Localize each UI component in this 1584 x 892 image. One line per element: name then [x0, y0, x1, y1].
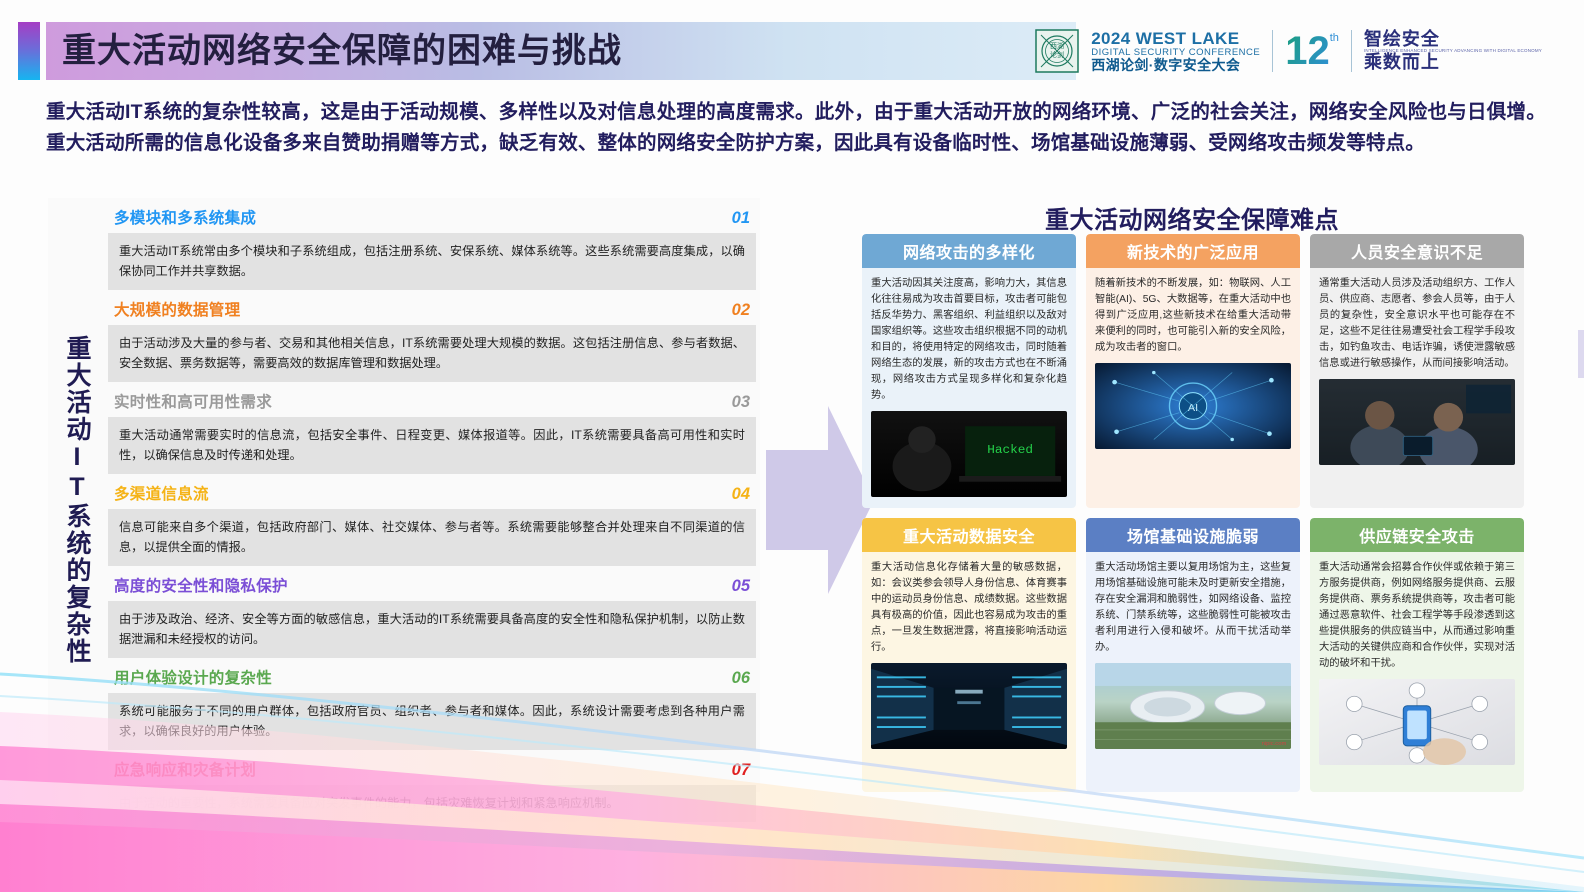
complexity-item-text: 系统可能服务于不同的用户群体，包括政府官员、组织者、参与者和媒体。因此，系统设计… — [108, 693, 756, 750]
complexity-item-title: 实时性和高可用性需求 — [114, 390, 272, 412]
complexity-item-number: 07 — [732, 761, 750, 780]
difficulty-card-text: 重大活动因其关注度高，影响力大，其信息化往往易成为攻击首要目标，攻击者可能包括反… — [871, 276, 1067, 404]
complexity-item-header: 应急响应和灾备计划07 — [108, 754, 756, 785]
complexity-item-header: 实时性和高可用性需求03 — [108, 386, 756, 417]
slide-canvas: 重大活动网络安全保障的困难与挑战 西湖 论剑 2024 WEST LAKE DI… — [0, 0, 1584, 892]
logo-divider-1 — [1272, 30, 1273, 72]
slogan-line-1: 智绘安全 — [1364, 30, 1542, 49]
complexity-item-header: 用户体验设计的复杂性06 — [108, 662, 756, 693]
complexity-item-title: 高度的安全性和隐私保护 — [114, 574, 288, 596]
west-lake-seal-emblem: 西湖 论剑 — [1035, 29, 1079, 73]
server-room-photo — [871, 663, 1067, 749]
svg-text:论剑: 论剑 — [1050, 50, 1064, 59]
difficulty-card: 新技术的广泛应用随着新技术的不断发展，如：物联网、人工智能(AI)、5G、大数据… — [1086, 234, 1300, 508]
logo-line-1: 2024 WEST LAKE — [1091, 30, 1260, 48]
stadium-aerial-photo: nipic.com — [1095, 663, 1291, 749]
hacker-at-computer-photo: Hacked — [871, 411, 1067, 497]
complexity-item-text: 信息可能来自多个渠道，包括政府部门、媒体、社交媒体、参与者等。系统需要能够整合并… — [108, 509, 756, 566]
complexity-item-list: 多模块和多系统集成01重大活动IT系统常由多个模块和子系统组成，包括注册系统、安… — [108, 202, 756, 826]
complexity-item-number: 04 — [732, 485, 750, 504]
complexity-item-title: 应急响应和灾备计划 — [114, 758, 256, 780]
difficulty-card: 人员安全意识不足通常重大活动人员涉及活动组织方、工作人员、供应商、志愿者、参会人… — [1310, 234, 1524, 508]
complexity-item-title: 多模块和多系统集成 — [114, 206, 256, 228]
page-title: 重大活动网络安全保障的困难与挑战 — [62, 28, 622, 74]
intro-paragraph: 重大活动IT系统的复杂性较高，这是由于活动规模、多样性以及对信息处理的高度需求。… — [46, 97, 1546, 159]
complexity-item-title: 多渠道信息流 — [114, 482, 209, 504]
difficulty-card-header: 网络攻击的多样化 — [862, 234, 1076, 268]
complexity-item-header: 多渠道信息流04 — [108, 478, 756, 509]
svg-text:nipic.com: nipic.com — [1262, 741, 1287, 747]
complexity-item-header: 多模块和多系统集成01 — [108, 202, 756, 233]
complexity-item-title: 大规模的数据管理 — [114, 298, 240, 320]
difficulty-card-text: 重大活动通常会招募合作伙伴或依赖于第三方服务提供商，例如网络服务提供商、云服务提… — [1319, 560, 1515, 672]
complexity-item-text: 由于活动的重要性，系统需要具备应对突发事件的能力，包括灾难恢复计划和紧急响应机制… — [108, 785, 756, 822]
complexity-item: 实时性和高可用性需求03重大活动通常需要实时的信息流，包括安全事件、日程变更、媒… — [108, 386, 756, 474]
complexity-item: 多模块和多系统集成01重大活动IT系统常由多个模块和子系统组成，包括注册系统、安… — [108, 202, 756, 290]
svg-text:AI: AI — [1188, 402, 1198, 414]
complexity-item-number: 03 — [732, 393, 750, 412]
complexity-item-header: 高度的安全性和隐私保护05 — [108, 570, 756, 601]
difficulty-card-body: 重大活动场馆主要以复用场馆为主，这些复用场馆基础设施可能未及时更新安全措施，存在… — [1086, 552, 1300, 792]
complexity-item-number: 06 — [732, 669, 750, 688]
difficulty-card-header: 新技术的广泛应用 — [1086, 234, 1300, 268]
difficulty-card-grid: 网络攻击的多样化重大活动因其关注度高，影响力大，其信息化往往易成为攻击首要目标，… — [862, 234, 1524, 792]
difficulty-card: 网络攻击的多样化重大活动因其关注度高，影响力大，其信息化往往易成为攻击首要目标，… — [862, 234, 1076, 508]
complexity-item-text: 重大活动通常需要实时的信息流，包括安全事件、日程变更、媒体报道等。因此，IT系统… — [108, 417, 756, 474]
difficulty-card-body: 重大活动因其关注度高，影响力大，其信息化往往易成为攻击首要目标，攻击者可能包括反… — [862, 268, 1076, 508]
logo-line-3: 西湖论剑·数字安全大会 — [1091, 58, 1260, 73]
vertical-section-label: 重大活动IT系统的复杂性 — [56, 330, 92, 670]
complexity-item-text: 由于涉及政治、经济、安全等方面的敏感信息，重大活动的IT系统需要具备高度的安全性… — [108, 601, 756, 658]
complexity-item-number: 05 — [732, 577, 750, 596]
edition-suffix: th — [1330, 32, 1339, 44]
conference-name-block: 2024 WEST LAKE DIGITAL SECURITY CONFEREN… — [1091, 30, 1260, 73]
complexity-item: 多渠道信息流04信息可能来自多个渠道，包括政府部门、媒体、社交媒体、参与者等。系… — [108, 478, 756, 566]
conference-logo: 西湖 论剑 2024 WEST LAKE DIGITAL SECURITY CO… — [1035, 26, 1542, 76]
complexity-item-number: 02 — [732, 301, 750, 320]
difficulty-card-text: 重大活动信息化存储着大量的敏感数据，如：会议类参会领导人身份信息、体育赛事中的运… — [871, 560, 1067, 656]
complexity-item: 应急响应和灾备计划07由于活动的重要性，系统需要具备应对突发事件的能力，包括灾难… — [108, 754, 756, 822]
difficulty-card-body: 随着新技术的不断发展，如：物联网、人工智能(AI)、5G、大数据等，在重大活动中… — [1086, 268, 1300, 508]
edition-badge: 12 th — [1285, 30, 1339, 72]
difficulty-card-body: 重大活动信息化存储着大量的敏感数据，如：会议类参会领导人身份信息、体育赛事中的运… — [862, 552, 1076, 792]
right-pointing-arrow — [766, 406, 874, 594]
complexity-item-title: 用户体验设计的复杂性 — [114, 666, 272, 688]
staff-at-workstation-photo — [1319, 379, 1515, 465]
difficulty-card: 重大活动数据安全重大活动信息化存储着大量的敏感数据，如：会议类参会领导人身份信息… — [862, 518, 1076, 792]
difficulty-card: 供应链安全攻击重大活动通常会招募合作伙伴或依赖于第三方服务提供商，例如网络服务提… — [1310, 518, 1524, 792]
supply-chain-network-photo — [1319, 679, 1515, 765]
difficulty-card-text: 随着新技术的不断发展，如：物联网、人工智能(AI)、5G、大数据等，在重大活动中… — [1095, 276, 1291, 356]
difficulty-card-header: 供应链安全攻击 — [1310, 518, 1524, 552]
difficulty-card-header: 重大活动数据安全 — [862, 518, 1076, 552]
difficulty-card-text: 通常重大活动人员涉及活动组织方、工作人员、供应商、志愿者、参会人员等，由于人员的… — [1319, 276, 1515, 372]
difficulty-card-header: 人员安全意识不足 — [1310, 234, 1524, 268]
difficulty-card-text: 重大活动场馆主要以复用场馆为主，这些复用场馆基础设施可能未及时更新安全措施，存在… — [1095, 560, 1291, 656]
conference-slogan: 智绘安全 INTELLIGENCE ENHANCED SECURITY ADVA… — [1364, 30, 1542, 73]
ai-network-photo: AI — [1095, 363, 1291, 449]
difficulty-card-header: 场馆基础设施脆弱 — [1086, 518, 1300, 552]
complexity-item: 大规模的数据管理02由于活动涉及大量的参与者、交易和其他相关信息，IT系统需要处… — [108, 294, 756, 382]
complexity-item: 用户体验设计的复杂性06系统可能服务于不同的用户群体，包括政府官员、组织者、参与… — [108, 662, 756, 750]
difficulty-card-body: 通常重大活动人员涉及活动组织方、工作人员、供应商、志愿者、参会人员等，由于人员的… — [1310, 268, 1524, 508]
header-accent-bar — [18, 22, 40, 80]
edition-number: 12 — [1285, 30, 1330, 72]
complexity-item-text: 由于活动涉及大量的参与者、交易和其他相关信息，IT系统需要处理大规模的数据。这包… — [108, 325, 756, 382]
complexity-item-text: 重大活动IT系统常由多个模块和子系统组成，包括注册系统、安保系统、媒体系统等。这… — [108, 233, 756, 290]
complexity-item: 高度的安全性和隐私保护05由于涉及政治、经济、安全等方面的敏感信息，重大活动的I… — [108, 570, 756, 658]
slogan-line-2: 乘数而上 — [1364, 53, 1542, 72]
complexity-item-number: 01 — [732, 209, 750, 228]
logo-divider-2 — [1351, 30, 1352, 72]
complexity-item-header: 大规模的数据管理02 — [108, 294, 756, 325]
scroll-indicator[interactable] — [1578, 330, 1584, 378]
right-panel-title: 重大活动网络安全保障难点 — [862, 200, 1522, 235]
difficulty-card-body: 重大活动通常会招募合作伙伴或依赖于第三方服务提供商，例如网络服务提供商、云服务提… — [1310, 552, 1524, 792]
difficulty-card: 场馆基础设施脆弱重大活动场馆主要以复用场馆为主，这些复用场馆基础设施可能未及时更… — [1086, 518, 1300, 792]
svg-text:西湖: 西湖 — [1050, 41, 1064, 50]
svg-text:Hacked: Hacked — [987, 443, 1033, 457]
